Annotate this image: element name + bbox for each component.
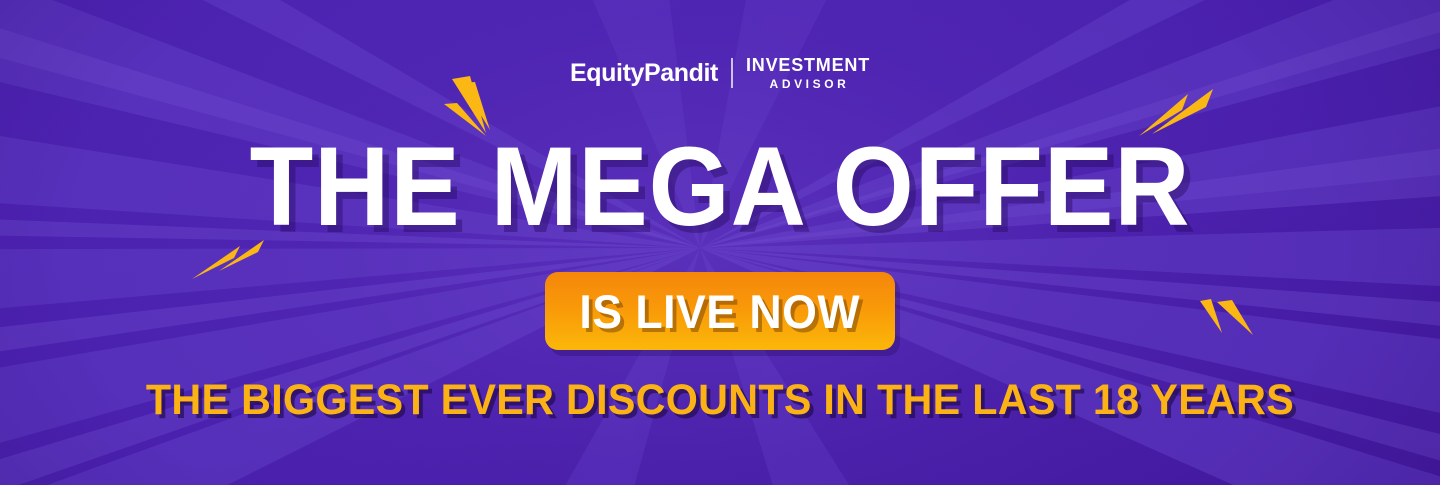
tagline-advisor: ADVISOR — [767, 78, 850, 90]
brand-logo: EquityPandit INVESTMENT ADVISOR — [0, 56, 1440, 90]
brand-name: EquityPandit — [570, 61, 718, 86]
promo-banner: EquityPandit INVESTMENT ADVISOR THE MEGA… — [0, 0, 1440, 485]
tagline-investment: INVESTMENT — [746, 56, 870, 74]
live-now-badge[interactable]: IS LIVE NOW — [545, 272, 895, 350]
live-badge-container: IS LIVE NOW — [0, 272, 1440, 350]
live-badge-label: IS LIVE NOW — [580, 288, 861, 335]
brand-tagline: INVESTMENT ADVISOR — [746, 56, 870, 90]
subtitle-text: THE BIGGEST EVER DISCOUNTS IN THE LAST 1… — [29, 379, 1411, 422]
headline-text: THE MEGA OFFER — [50, 131, 1389, 243]
logo-divider — [731, 58, 733, 88]
